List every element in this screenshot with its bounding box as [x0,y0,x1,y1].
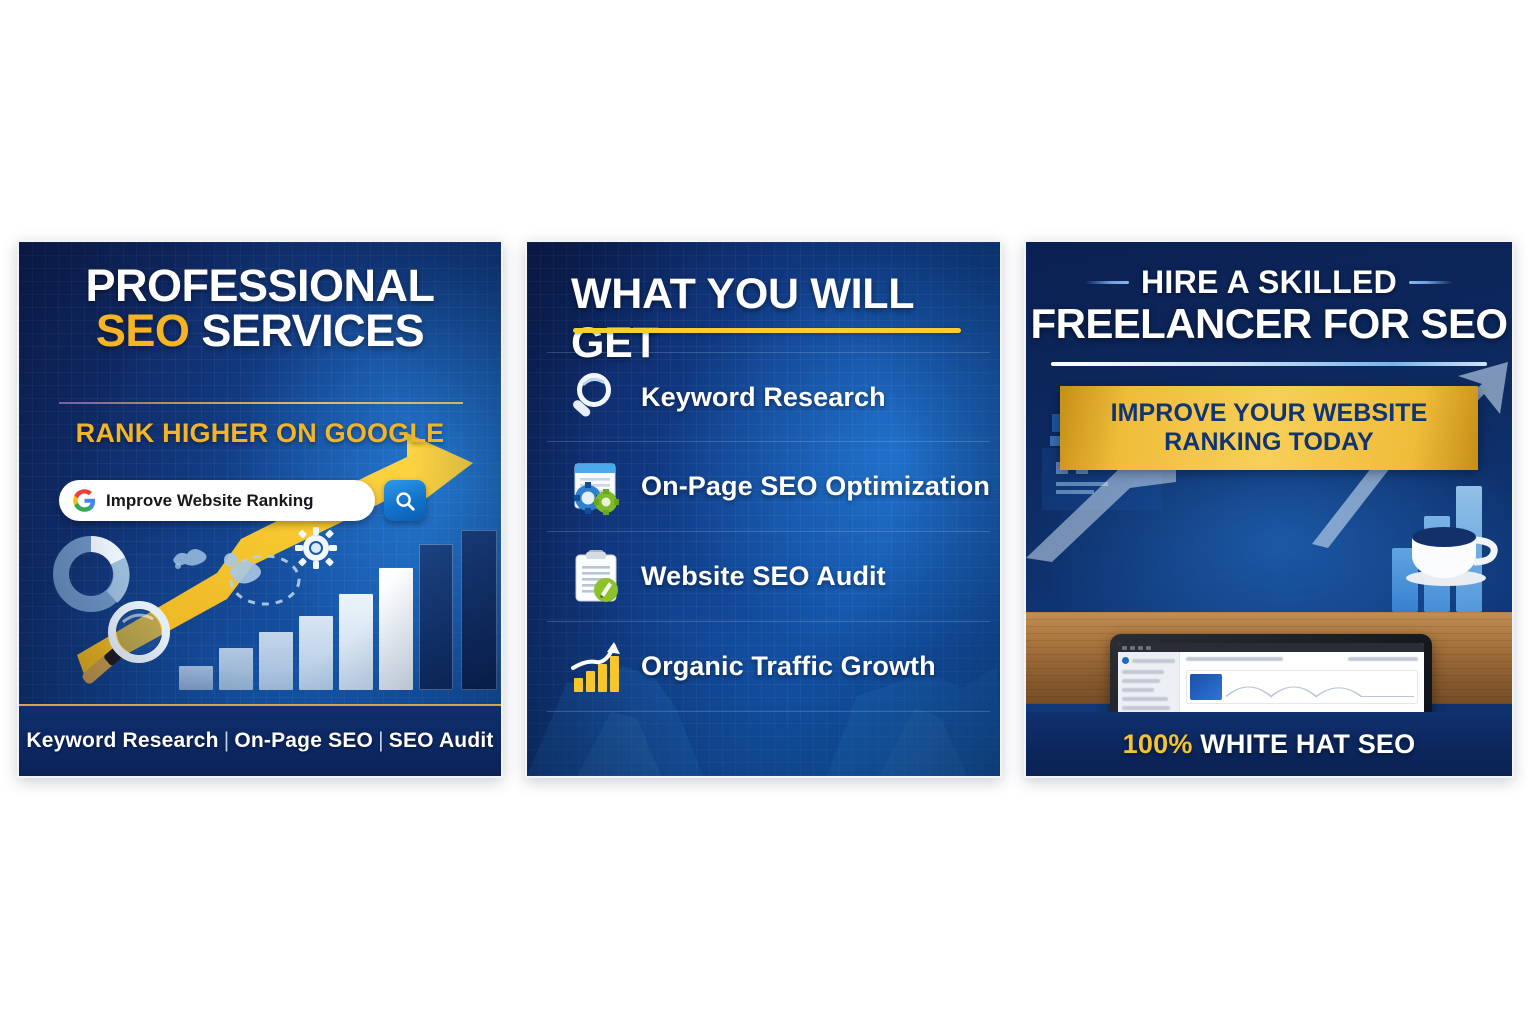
footer-sep-1: | [373,729,389,752]
panel1-title-accent: SEO [96,305,190,356]
panel1-footer-text: Keyword Research|On-Page SEO|SEO Audit [26,729,493,753]
panel2-title-underline [573,328,961,333]
list-item[interactable]: On-Page SEO Optimization [547,442,990,532]
google-g-icon [73,489,96,512]
list-item-label: Organic Traffic Growth [641,651,936,682]
search-input[interactable]: Improve Website Ranking [59,480,375,521]
panel1-title-line1: PROFESSIONAL [19,264,501,308]
list-item[interactable]: Website SEO Audit [547,532,990,622]
panel1-divider [59,402,463,404]
dash-right-icon [1409,281,1453,284]
list-item[interactable]: Organic Traffic Growth [547,622,990,712]
ribbon-line-2: RANKING TODAY [1164,428,1374,457]
footer-item-2: SEO Audit [389,729,494,752]
magnifier-icon [561,366,633,428]
footer-item-1: On-Page SEO [234,729,373,752]
panel3-divider [1051,362,1487,366]
panel3-footer: 100% WHITE HAT SEO [1026,712,1512,776]
panel2-feature-list: Keyword Research On- [547,352,990,712]
list-item-label: Website SEO Audit [641,561,886,592]
footer-item-0: Keyword Research [26,729,218,752]
panel1-title-rest: SERVICES [189,305,424,356]
panel3-title: FREELANCER FOR SEO [1026,300,1512,348]
dashboard-card [1186,670,1418,704]
coffee-cup-icon [1402,514,1502,588]
panel3-footer-percent: 100% [1123,729,1193,759]
clipboard-check-icon [561,546,633,608]
poster-hire-a-skilled-freelancer: HIRE A SKILLED FREELANCER FOR SEO IMPROV… [1024,240,1514,778]
panel3-footer-label: WHITE HAT SEO [1193,729,1416,759]
panel1-footer: Keyword Research|On-Page SEO|SEO Audit [19,704,501,776]
document-gear-icon [561,456,633,518]
panel3-footer-text: 100% WHITE HAT SEO [1123,729,1416,760]
list-item-label: Keyword Research [641,382,886,413]
poster-what-you-will-get: WHAT YOU WILL GET Keyword Research [525,240,1002,778]
panel3-cta-ribbon[interactable]: IMPROVE YOUR WEBSITE RANKING TODAY [1060,386,1478,470]
search-button[interactable] [384,480,426,521]
footer-sep-0: | [219,729,235,752]
poster-professional-seo-services: PROFESSIONAL SEO SERVICES RANK HIGHER ON… [17,240,503,778]
panel1-headline: PROFESSIONAL SEO SERVICES [19,264,501,354]
search-icon [394,490,416,512]
list-item-label: On-Page SEO Optimization [641,471,990,502]
browser-toolbar [1118,643,1424,652]
poster-set: PROFESSIONAL SEO SERVICES RANK HIGHER ON… [0,0,1536,1024]
panel1-title-line2: SEO SERVICES [19,308,501,354]
list-item[interactable]: Keyword Research [547,352,990,442]
bar-chart-arrow-icon [561,636,633,698]
panel1-subtitle: RANK HIGHER ON GOOGLE [19,418,501,449]
panel3-kicker: HIRE A SKILLED [1141,264,1397,301]
dash-left-icon [1085,281,1129,284]
panel3-kicker-row: HIRE A SKILLED [1026,264,1512,301]
search-input-value: Improve Website Ranking [106,491,314,511]
ribbon-line-1: IMPROVE YOUR WEBSITE [1111,399,1428,428]
